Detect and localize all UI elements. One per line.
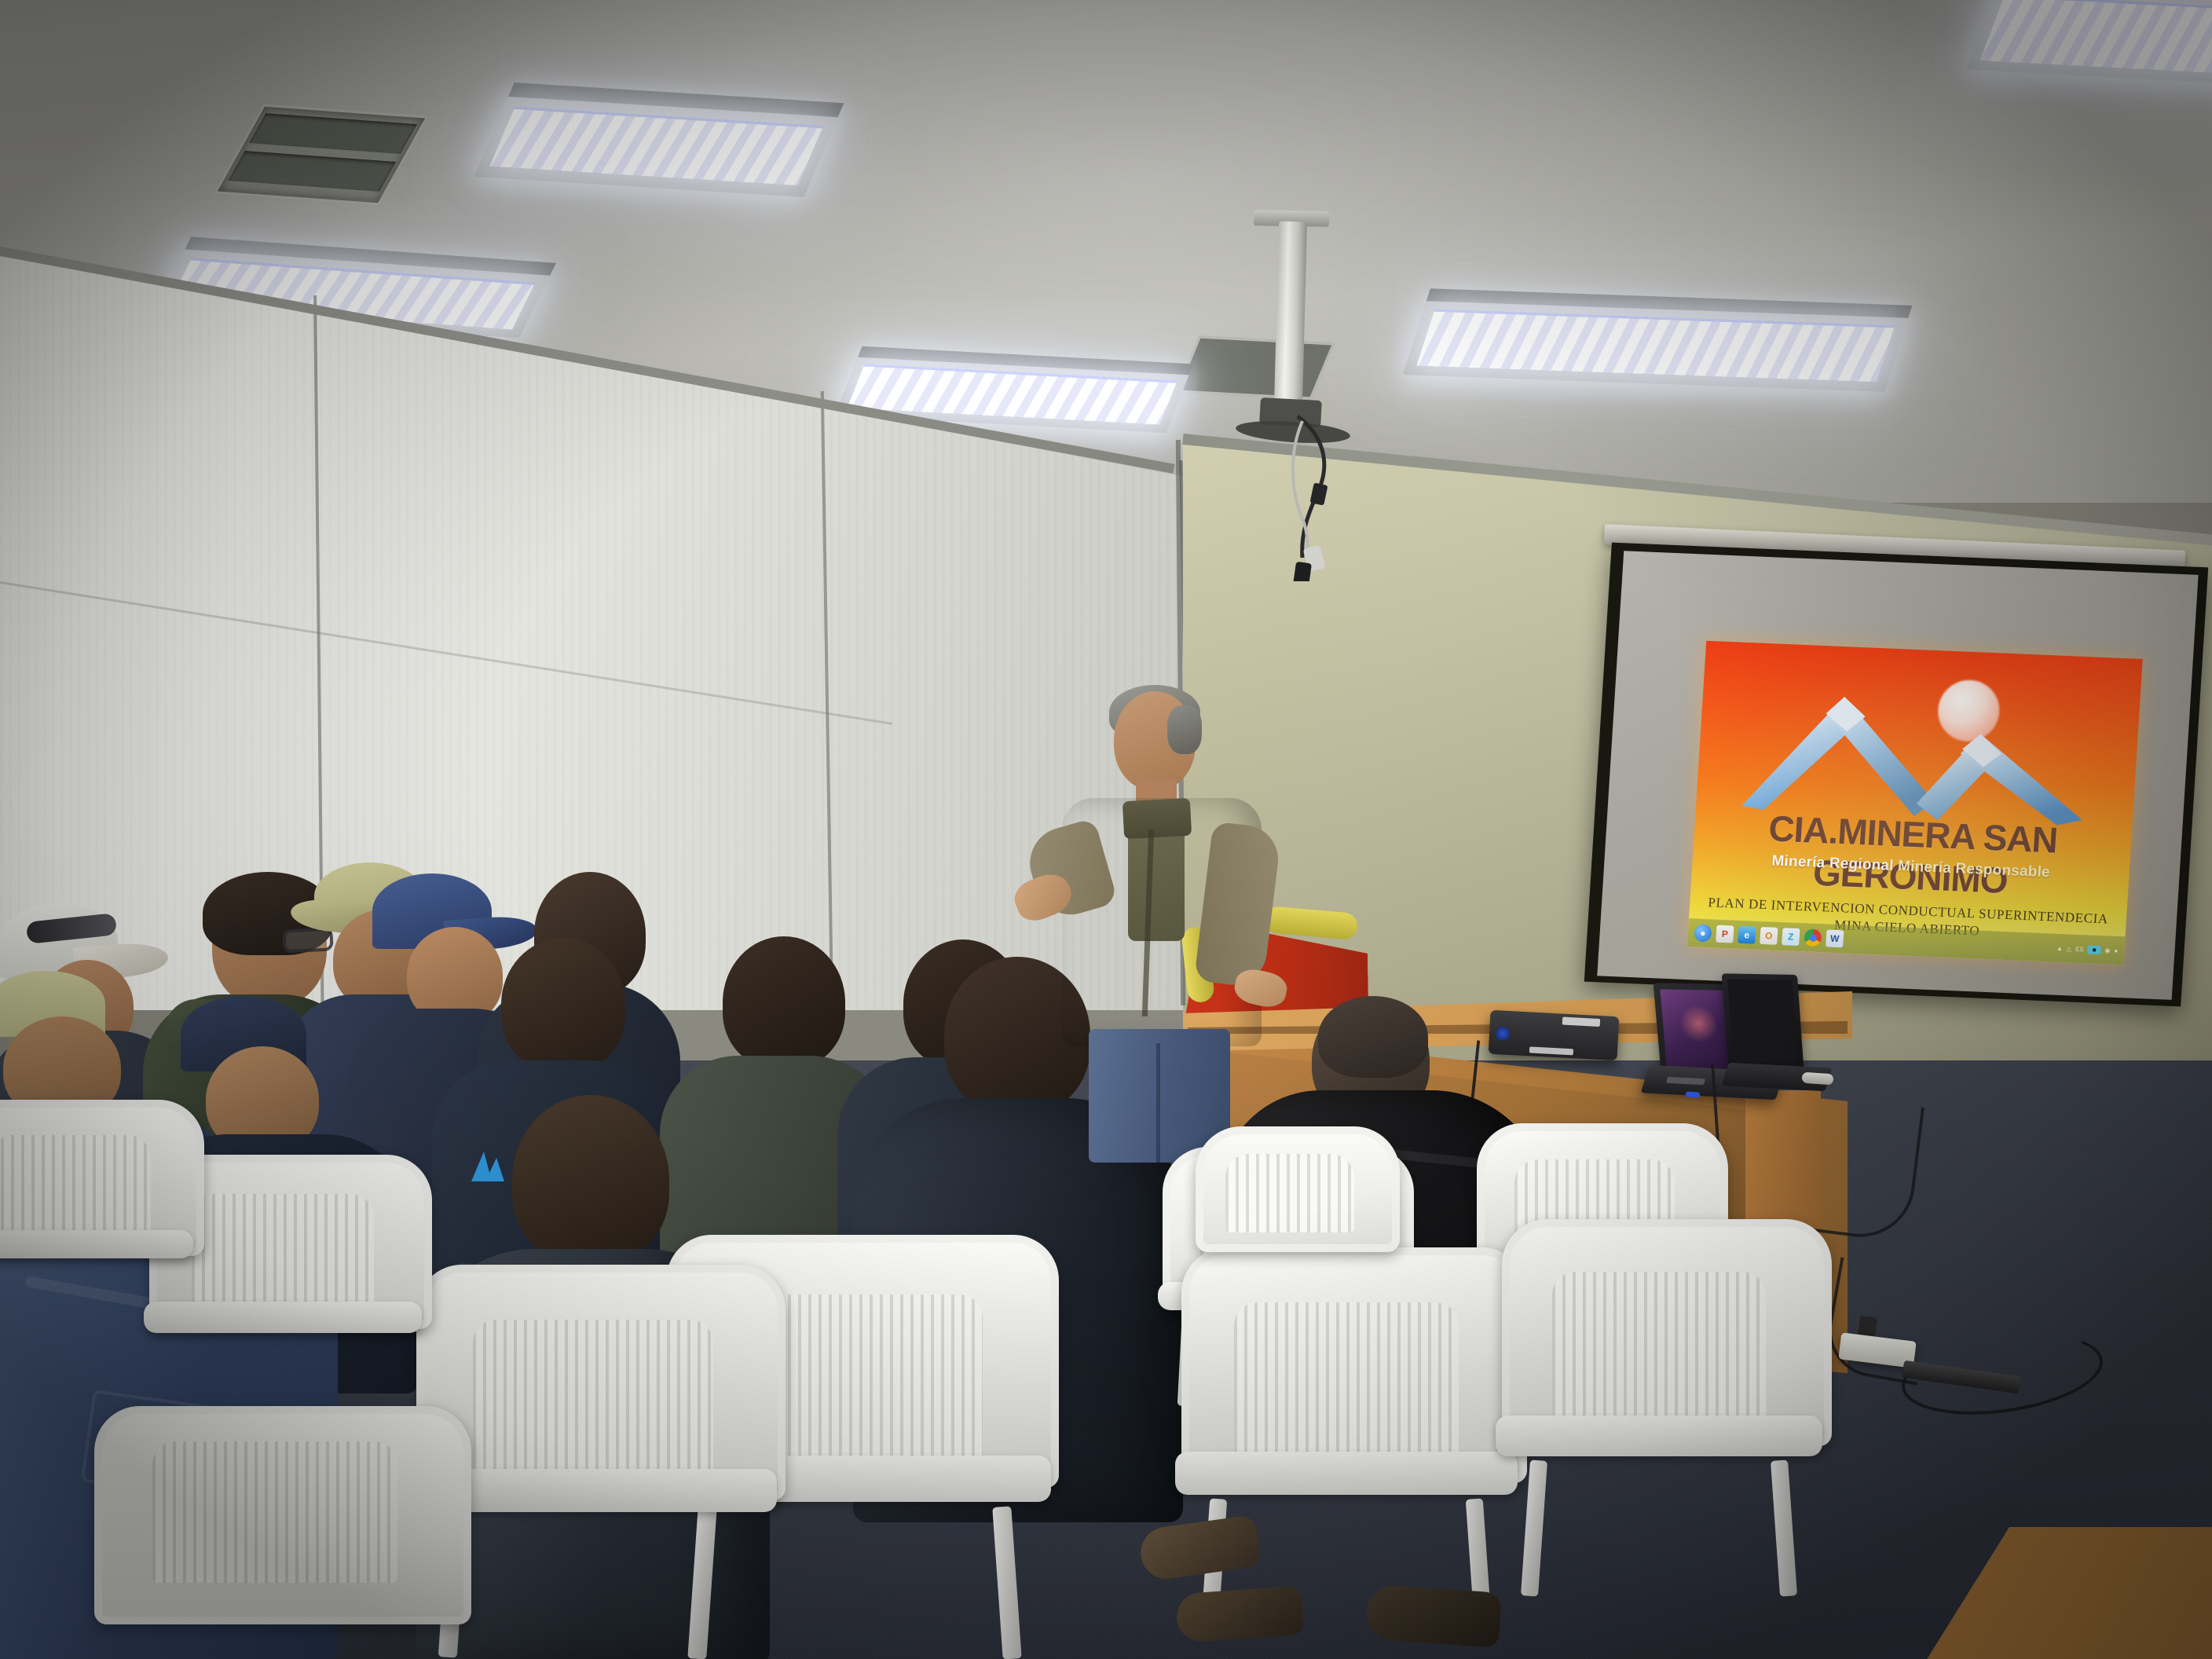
projector-ceiling-mount xyxy=(1274,222,1307,408)
mountain-peaks-icon xyxy=(1727,676,2112,827)
system-tray[interactable]: ▲ △ ES ■ ◉ ● xyxy=(2056,943,2119,954)
head-hair xyxy=(501,938,625,1071)
hair-side xyxy=(1167,705,1202,754)
laptop-display-off xyxy=(1727,979,1798,1061)
white-plastic-chair[interactable] xyxy=(94,1406,456,1659)
head-hair xyxy=(512,1095,669,1265)
white-plastic-chair[interactable] xyxy=(0,1100,189,1351)
battery-icon: ■ xyxy=(2087,945,2101,954)
shoe xyxy=(1365,1584,1502,1648)
app-icon[interactable]: Z xyxy=(1782,928,1800,946)
clock: ● xyxy=(2114,947,2118,954)
outlook-icon[interactable]: O xyxy=(1760,927,1778,945)
collar xyxy=(1122,798,1192,839)
fluorescent-ceiling-light xyxy=(1403,288,1913,392)
projection-screen[interactable]: CIA.MINERA SAN GERONIMO Minería Regional… xyxy=(1584,543,2209,1007)
language-icon: ES xyxy=(2075,945,2084,952)
edge-browser-icon[interactable]: e xyxy=(1738,926,1756,944)
white-plastic-chair[interactable] xyxy=(1196,1126,1384,1323)
hanging-cables-icon xyxy=(1257,408,1382,581)
computer-mouse[interactable] xyxy=(1802,1072,1834,1086)
start-orb-icon[interactable]: ● xyxy=(1694,924,1712,942)
laptop-screen-secondary[interactable] xyxy=(1722,973,1804,1068)
head-hair xyxy=(723,936,845,1068)
sweater xyxy=(1128,826,1185,941)
company-logo xyxy=(1696,657,2141,824)
presenter xyxy=(1021,691,1280,1163)
ceiling-air-vent-secondary xyxy=(1176,335,1335,399)
white-plastic-chair[interactable] xyxy=(1502,1219,1816,1596)
projection-screen-surface: CIA.MINERA SAN GERONIMO Minería Regional… xyxy=(1597,551,2198,1000)
hair xyxy=(1318,996,1428,1078)
volume-icon: ◉ xyxy=(2104,947,2111,954)
jeans-seam xyxy=(1156,1043,1160,1163)
chrome-icon[interactable] xyxy=(1804,928,1822,947)
presentation-slide: CIA.MINERA SAN GERONIMO Minería Regional… xyxy=(1687,641,2143,965)
fluorescent-ceiling-light xyxy=(474,82,844,197)
network-icon: △ xyxy=(2067,945,2072,952)
word-icon[interactable]: W xyxy=(1826,929,1844,947)
meeting-room-scene: CIA.MINERA SAN GERONIMO Minería Regional… xyxy=(0,0,2212,1659)
shoe xyxy=(1175,1585,1304,1643)
signal-icon: ▲ xyxy=(2056,944,2063,951)
projector-label xyxy=(1562,1017,1600,1027)
powerpoint-icon[interactable]: P xyxy=(1716,925,1734,943)
